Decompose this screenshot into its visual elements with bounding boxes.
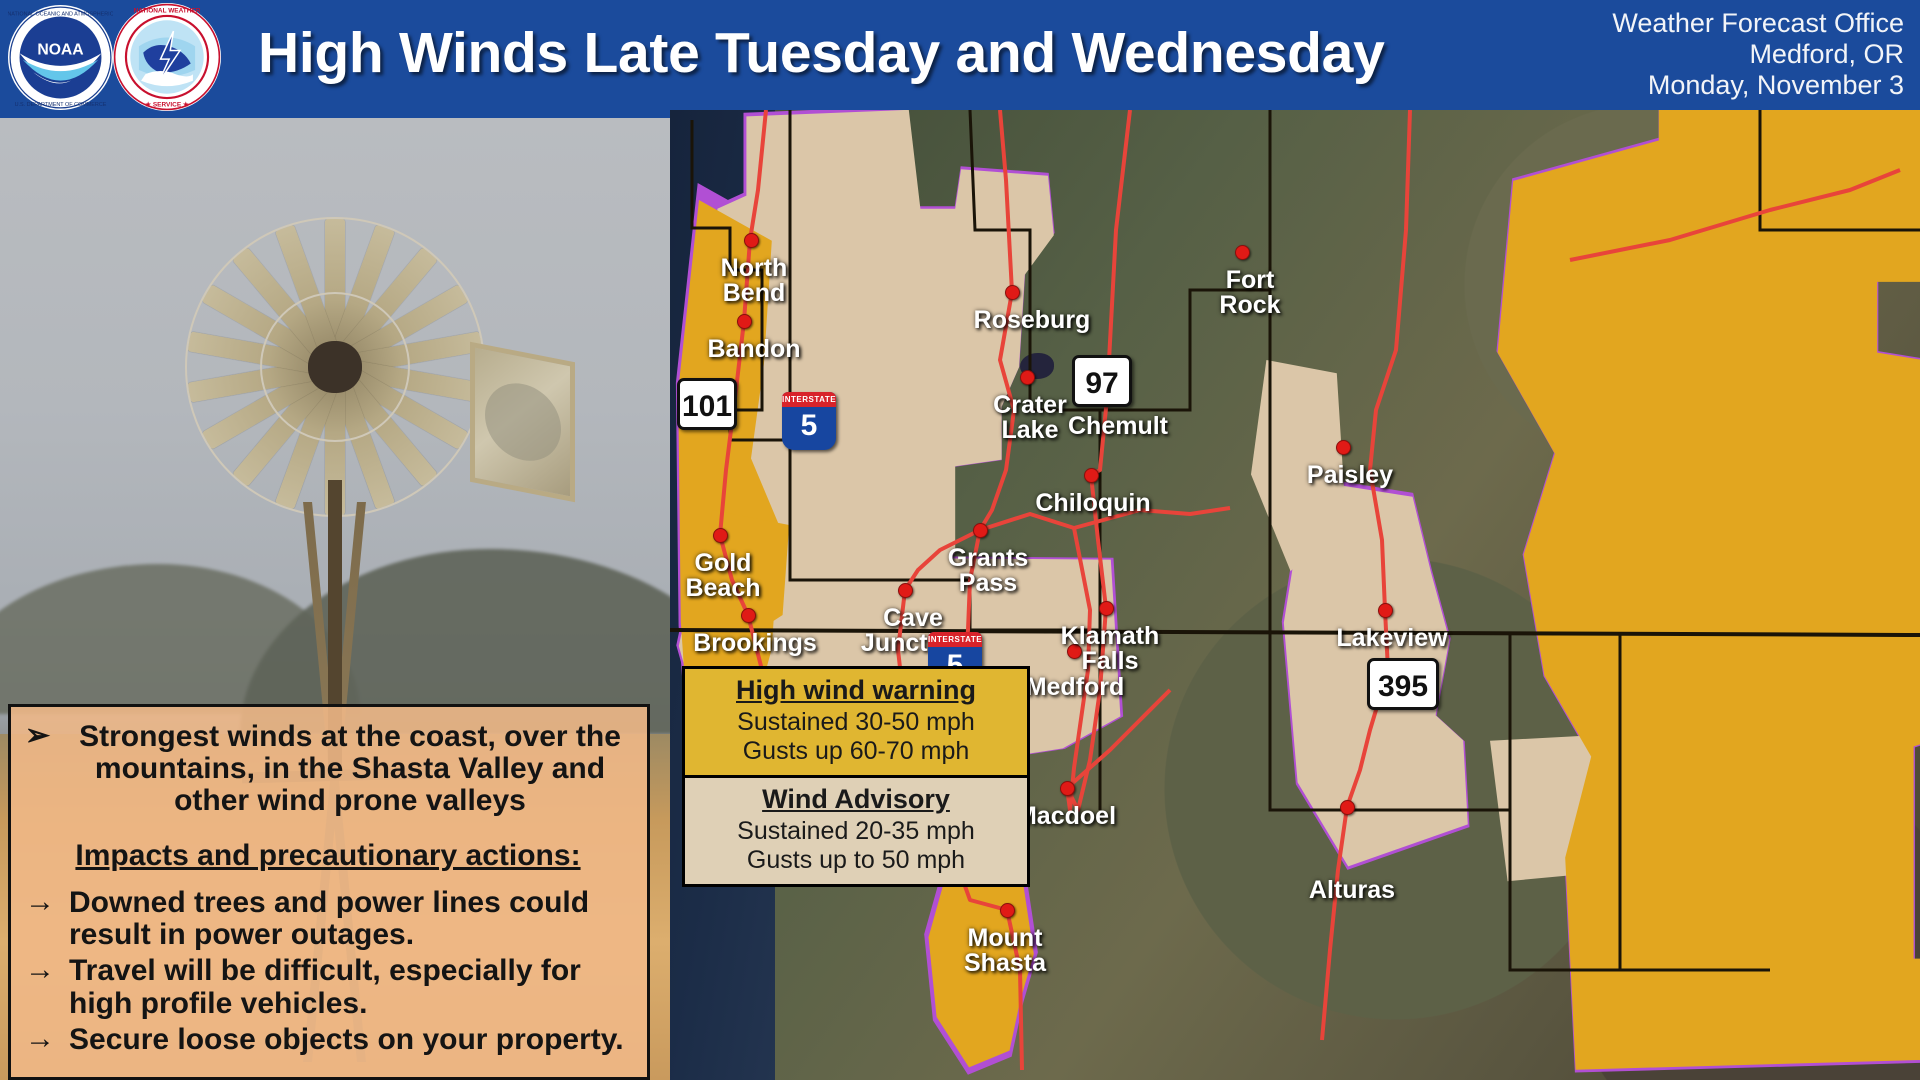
city-dot: [737, 314, 752, 329]
city-dot: [1060, 781, 1075, 796]
city-dot: [741, 608, 756, 623]
city-label-macdoel: Macdoel: [1016, 804, 1116, 829]
legend-warning-sustained: Sustained 30-50 mph: [693, 708, 1019, 737]
city-dot: [1099, 601, 1114, 616]
city-label-paisley: Paisley: [1307, 463, 1393, 488]
arrow-right-icon: →: [25, 1024, 59, 1054]
city-label-chiloquin: Chiloquin: [1035, 491, 1150, 516]
office-location: Medford, OR: [1612, 39, 1904, 70]
lead-bullet: ➢ Strongest winds at the coast, over the…: [25, 721, 631, 817]
list-item: → Secure loose objects on your property.: [25, 1024, 631, 1056]
city-label-klamath-falls: Klamath Falls: [1061, 624, 1160, 674]
national-weather-service-logo: NATIONAL WEATHER ★ SERVICE ★: [113, 3, 221, 111]
office-name: Weather Forecast Office: [1612, 8, 1904, 39]
city-label-lakeview: Lakeview: [1336, 626, 1447, 651]
city-dot: [1378, 603, 1393, 618]
windmill-hub: [308, 341, 362, 393]
city-label-alturas: Alturas: [1309, 878, 1395, 903]
city-label-crater-lake: Crater Lake: [993, 393, 1067, 443]
interstate-5-shield: INTERSTATE 5: [782, 392, 836, 450]
list-item-text: Travel will be difficult, especially for…: [69, 955, 631, 1019]
city-label-chemult: Chemult: [1068, 414, 1168, 439]
svg-text:★ SERVICE ★: ★ SERVICE ★: [144, 102, 189, 109]
city-dot: [1000, 903, 1015, 918]
impacts-list: → Downed trees and power lines could res…: [25, 887, 631, 1055]
city-label-north-bend: North Bend: [721, 256, 788, 306]
noaa-wordmark: NOAA: [37, 41, 83, 58]
legend-advisory-gusts: Gusts up to 50 mph: [693, 846, 1019, 875]
arrow-bullet-icon: ➢: [25, 721, 59, 751]
impacts-panel: ➢ Strongest winds at the coast, over the…: [8, 704, 650, 1080]
arrow-right-icon: →: [25, 887, 59, 917]
list-item: → Downed trees and power lines could res…: [25, 887, 631, 951]
city-dot: [1340, 800, 1355, 815]
legend-high-wind-warning: High wind warning Sustained 30-50 mph Gu…: [685, 669, 1027, 778]
city-label-roseburg: Roseburg: [974, 308, 1091, 333]
impacts-heading: Impacts and precautionary actions:: [25, 839, 631, 873]
legend-wind-advisory: Wind Advisory Sustained 20-35 mph Gusts …: [685, 778, 1027, 884]
interstate-number: 5: [801, 409, 818, 442]
city-label-brookings: Brookings: [693, 631, 817, 656]
svg-text:NATIONAL WEATHER: NATIONAL WEATHER: [134, 8, 201, 15]
list-item-text: Downed trees and power lines could resul…: [69, 887, 631, 951]
city-label-medford: Medford: [1026, 675, 1125, 700]
windmill-vane: [470, 342, 575, 502]
interstate-banner: INTERSTATE: [928, 632, 982, 647]
legend-warning-gusts: Gusts up 60-70 mph: [693, 737, 1019, 766]
city-dot: [1235, 245, 1250, 260]
city-dot: [713, 528, 728, 543]
city-dot: [1084, 468, 1099, 483]
city-label-gold-beach: Gold Beach: [685, 551, 760, 601]
svg-text:NATIONAL OCEANIC AND ATMOSPHER: NATIONAL OCEANIC AND ATMOSPHERIC: [8, 12, 113, 18]
svg-text:U.S. DEPARTMENT OF COMMERCE: U.S. DEPARTMENT OF COMMERCE: [15, 102, 107, 108]
warning-map[interactable]: North Bend Bandon Roseburg Gold Beach Br…: [670, 110, 1920, 1080]
map-legend: High wind warning Sustained 30-50 mph Gu…: [682, 666, 1030, 887]
city-dot: [744, 233, 759, 248]
city-dot: [1336, 440, 1351, 455]
city-dot: [1005, 285, 1020, 300]
highways: [670, 110, 1920, 1080]
city-dot: [1020, 370, 1035, 385]
city-label-bandon: Bandon: [707, 337, 800, 362]
lead-bullet-text: Strongest winds at the coast, over the m…: [69, 721, 631, 817]
city-label-grants-pass: Grants Pass: [948, 546, 1029, 596]
us-highway-97-shield: 97: [1072, 355, 1132, 407]
city-dot: [898, 583, 913, 598]
city-label-fort-rock: Fort Rock: [1219, 268, 1280, 318]
city-label-mount-shasta: Mount Shasta: [964, 926, 1046, 976]
interstate-banner: INTERSTATE: [782, 392, 836, 407]
issue-date: Monday, November 3: [1612, 70, 1904, 101]
city-dot: [973, 523, 988, 538]
list-item: → Travel will be difficult, especially f…: [25, 955, 631, 1019]
legend-advisory-sustained: Sustained 20-35 mph: [693, 817, 1019, 846]
page-header: NOAA NATIONAL OCEANIC AND ATMOSPHERIC U.…: [0, 0, 1920, 118]
us-highway-395-shield: 395: [1367, 658, 1439, 710]
page-title: High Winds Late Tuesday and Wednesday: [258, 20, 1384, 86]
legend-warning-title: High wind warning: [693, 675, 1019, 706]
us-highway-101-shield: 101: [677, 378, 737, 430]
legend-advisory-title: Wind Advisory: [693, 784, 1019, 815]
office-info: Weather Forecast Office Medford, OR Mond…: [1612, 8, 1904, 100]
arrow-right-icon: →: [25, 955, 59, 985]
windmill-graphic: [170, 202, 500, 532]
noaa-logo: NOAA NATIONAL OCEANIC AND ATMOSPHERIC U.…: [8, 5, 113, 110]
list-item-text: Secure loose objects on your property.: [69, 1024, 624, 1056]
